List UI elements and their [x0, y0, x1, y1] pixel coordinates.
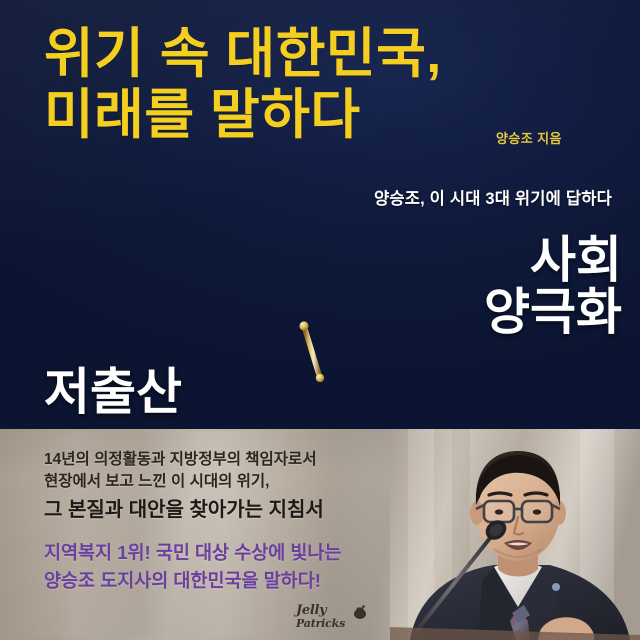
page-title: 위기 속 대한민국, 미래를 말하다 [44, 26, 604, 144]
keyword-low-birth-rate: 저출산 [44, 366, 182, 418]
author-photo [390, 429, 640, 640]
subtitle: 양승조, 이 시대 3대 위기에 답하다 [374, 185, 612, 209]
keyword-social-polarization-line-1: 사회 [484, 234, 622, 286]
book-cover: 위기 속 대한민국, 미래를 말하다 양승조 지음 양승조, 이 시대 3대 위… [0, 0, 640, 640]
keyword-social-polarization-line-2: 양극화 [484, 286, 622, 338]
title-line-1: 위기 속 대한민국, [44, 26, 604, 83]
publisher-logo: Jelly Patricks [296, 604, 370, 634]
keyword-social-polarization: 사회 양극화 [484, 234, 622, 338]
publisher-mark-icon [352, 604, 368, 625]
author-credit: 양승조 지음 [496, 128, 562, 147]
